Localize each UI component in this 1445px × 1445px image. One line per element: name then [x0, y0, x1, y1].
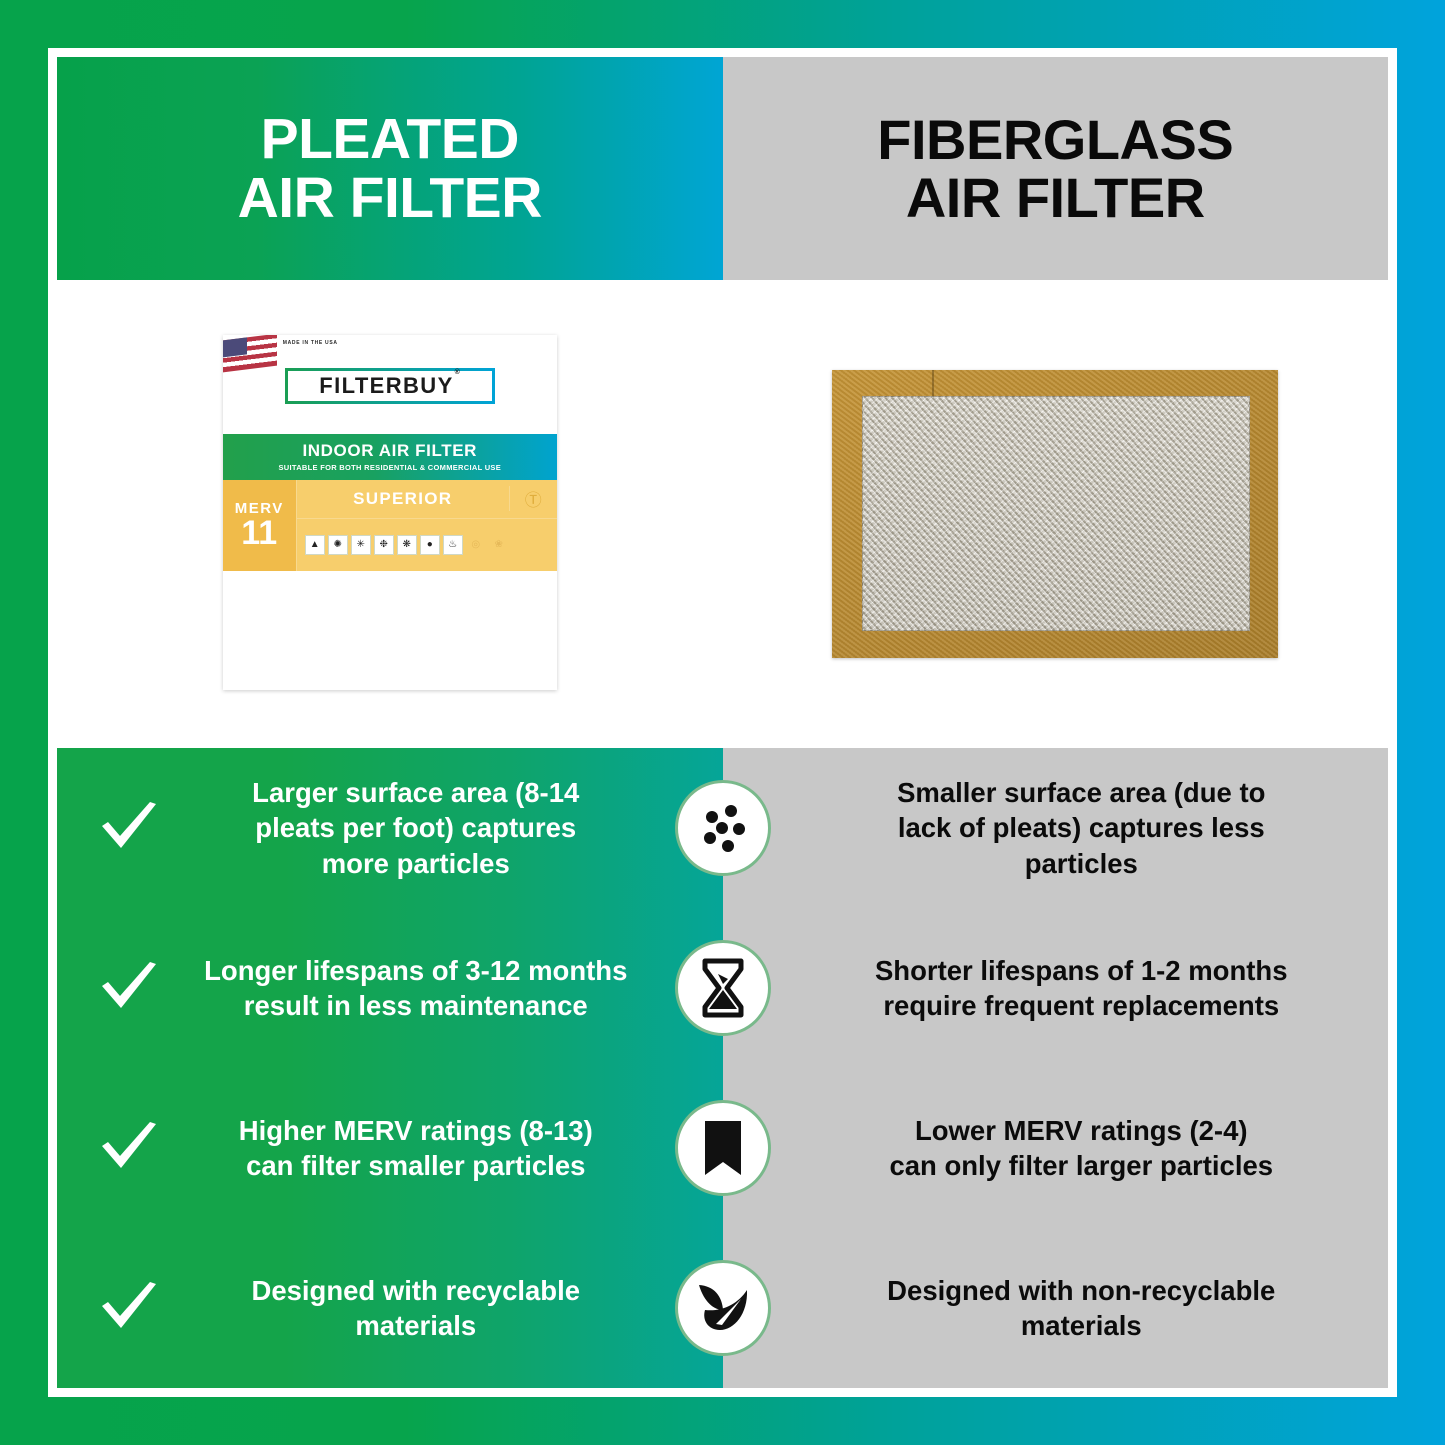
header-fiberglass-title: FIBERGLASS AIR FILTER [877, 111, 1233, 225]
row-left-text: Larger surface area (8-14 pleats per foo… [171, 775, 661, 881]
row-left-text: Higher MERV ratings (8-13) can filter sm… [171, 1113, 661, 1183]
merv-value: 11 [241, 517, 277, 549]
capsule-icon: ◎ [466, 535, 486, 555]
pet-dander-icon: ● [420, 535, 440, 555]
mold-icon: ❋ [397, 535, 417, 555]
hourglass-icon [675, 940, 771, 1036]
bacteria-icon: ✺ [328, 535, 348, 555]
header-band: PLEATED AIR FILTER FIBERGLASS AIR FILTER [57, 57, 1388, 280]
row-left-pleated: Higher MERV ratings (8-13) can filter sm… [57, 1068, 723, 1228]
frame-seam [932, 370, 934, 396]
box-band-title: INDOOR AIR FILTER [302, 441, 477, 461]
row-right-text: Designed with non-recyclable materials [805, 1273, 1359, 1343]
comparison-row: Longer lifespans of 3-12 months result i… [57, 908, 1388, 1068]
box-band-subtitle: SUITABLE FOR BOTH RESIDENTIAL & COMMERCI… [278, 463, 501, 472]
ul-seal-icon: Ⓣ [509, 486, 557, 511]
comparison-row: Higher MERV ratings (8-13) can filter sm… [57, 1068, 1388, 1228]
odor-icon: ❀ [489, 535, 509, 555]
row-right-text: Lower MERV ratings (2-4) can only filter… [805, 1113, 1359, 1183]
row-right-fiberglass: Smaller surface area (due to lack of ple… [723, 748, 1389, 908]
product-cell-fiberglass [723, 280, 1389, 748]
merv-badge: MERV 11 [223, 480, 297, 571]
leaf-icon [675, 1260, 771, 1356]
row-right-fiberglass: Shorter lifespans of 1-2 months require … [723, 908, 1389, 1068]
filterbuy-logo: FILTERBUY® [285, 368, 495, 404]
row-right-text: Smaller surface area (due to lack of ple… [805, 775, 1359, 881]
header-pleated-title: PLEATED AIR FILTER [238, 110, 542, 226]
tier-name: SUPERIOR [297, 489, 509, 509]
row-left-text: Longer lifespans of 3-12 months result i… [171, 953, 661, 1023]
header-pleated: PLEATED AIR FILTER [57, 57, 723, 280]
box-rating-section: MERV 11 SUPERIOR Ⓣ ▲ ✺ ✳ ❉ ❋ [223, 480, 557, 571]
dust-icon: ▲ [305, 535, 325, 555]
row-left-pleated: Larger surface area (8-14 pleats per foo… [57, 748, 723, 908]
usa-flag-icon [223, 335, 277, 372]
row-left-text: Designed with recyclable materials [171, 1273, 661, 1343]
virus-icon: ✳ [351, 535, 371, 555]
trademark-symbol: ® [455, 369, 462, 376]
box-top-section: MADE IN THE USA FILTERBUY® [223, 335, 557, 434]
bookmark-icon [675, 1100, 771, 1196]
feature-icon-row: ▲ ✺ ✳ ❉ ❋ ● ♨ ◎ ❀ [297, 519, 557, 571]
header-fiberglass: FIBERGLASS AIR FILTER [723, 57, 1389, 280]
checkmark-icon [87, 1280, 171, 1336]
product-cell-pleated: MADE IN THE USA FILTERBUY® INDOOR AIR FI… [57, 280, 723, 748]
tier-row: SUPERIOR Ⓣ [297, 480, 557, 519]
filterbuy-box-image: MADE IN THE USA FILTERBUY® INDOOR AIR FI… [223, 335, 557, 690]
gradient-frame: PLEATED AIR FILTER FIBERGLASS AIR FILTER… [0, 0, 1445, 1445]
box-indoor-band: INDOOR AIR FILTER SUITABLE FOR BOTH RESI… [223, 434, 557, 480]
pollen-icon: ❉ [374, 535, 394, 555]
product-image-row: MADE IN THE USA FILTERBUY® INDOOR AIR FI… [57, 280, 1388, 748]
particles-icon [675, 780, 771, 876]
checkmark-icon [87, 800, 171, 856]
fiberglass-media [862, 396, 1250, 631]
row-left-pleated: Longer lifespans of 3-12 months result i… [57, 908, 723, 1068]
comparison-rows: Larger surface area (8-14 pleats per foo… [57, 748, 1388, 1388]
row-right-fiberglass: Lower MERV ratings (2-4) can only filter… [723, 1068, 1389, 1228]
filterbuy-logo-text: FILTERBUY [319, 373, 453, 398]
comparison-row: Designed with recyclable materials Desig… [57, 1228, 1388, 1388]
row-left-pleated: Designed with recyclable materials [57, 1228, 723, 1388]
row-right-text: Shorter lifespans of 1-2 months require … [805, 953, 1359, 1023]
checkmark-icon [87, 1120, 171, 1176]
comparison-row: Larger surface area (8-14 pleats per foo… [57, 748, 1388, 908]
smoke-icon: ♨ [443, 535, 463, 555]
checkmark-icon [87, 960, 171, 1016]
fiberglass-filter-image [832, 370, 1278, 658]
row-right-fiberglass: Designed with non-recyclable materials [723, 1228, 1389, 1388]
made-in-usa-label: MADE IN THE USA [283, 340, 338, 348]
